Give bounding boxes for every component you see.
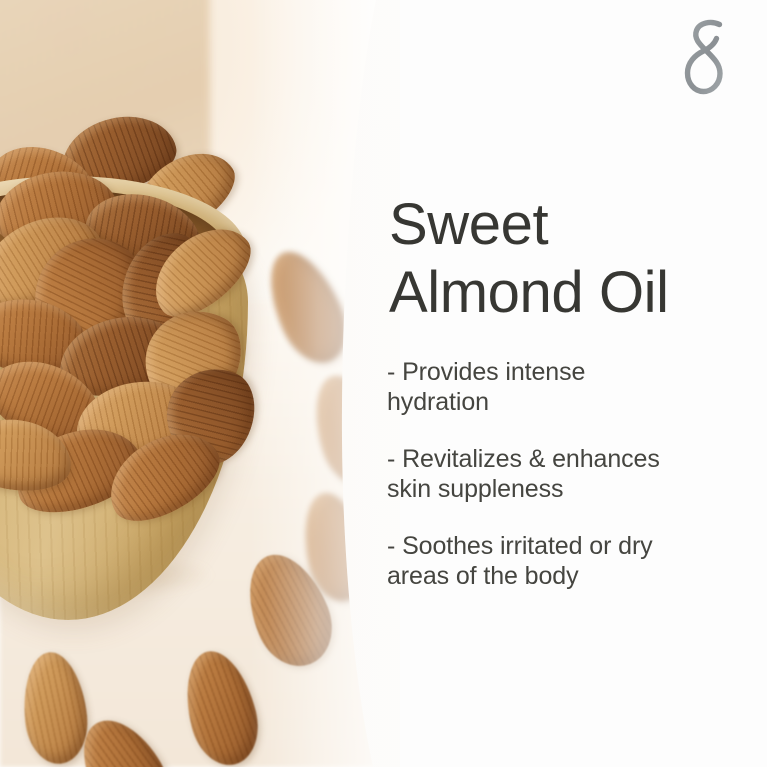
text-content: Sweet Almond Oil - Provides intense hydr…	[387, 0, 727, 767]
benefits-list: - Provides intense hydration - Revitaliz…	[387, 357, 723, 591]
benefit-item: - Provides intense hydration	[387, 357, 723, 417]
page-title: Sweet Almond Oil	[389, 191, 669, 327]
product-card: Sweet Almond Oil - Provides intense hydr…	[0, 0, 767, 767]
benefit-item: - Revitalizes & enhances skin suppleness	[387, 444, 723, 504]
benefit-item: - Soothes irritated or dry areas of the …	[387, 531, 723, 591]
product-photo	[0, 0, 400, 767]
